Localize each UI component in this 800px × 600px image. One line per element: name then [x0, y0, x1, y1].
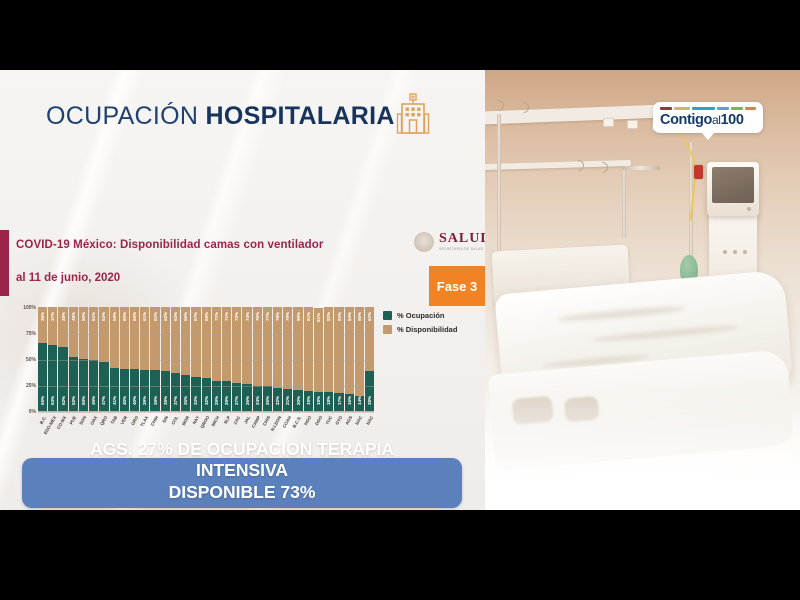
x-axis-tick-label: HGO — [303, 415, 312, 426]
bar-segment-ocupacion: 29% — [212, 381, 221, 411]
bar-segment-ocupacion: 19% — [304, 391, 313, 411]
bar-value-label: 60% — [122, 312, 127, 321]
hospital-building-icon — [396, 92, 430, 134]
bar-segment-disponibilidad: 84% — [345, 307, 354, 394]
bar-segment-disponibilidad: 71% — [222, 307, 231, 381]
bar-segment-ocupacion: 62% — [58, 347, 67, 411]
bar-segment-disponibilidad: 80% — [293, 307, 302, 390]
bar-segment-ocupacion: 18% — [324, 392, 333, 411]
bar-segment-ocupacion: 52% — [69, 357, 78, 411]
bar-segment-disponibilidad: 48% — [69, 307, 78, 357]
x-axis-tick-label: AGS — [344, 415, 353, 426]
bar-value-label: 20% — [296, 396, 301, 405]
bar-value-label: 52% — [71, 396, 76, 405]
x-axis-tick-label: TLAX — [139, 415, 149, 427]
bar-value-label: 39% — [142, 396, 147, 405]
chart-bar: 86%14% — [355, 307, 364, 411]
chart-bar: 60%40% — [120, 307, 129, 411]
bar-value-label: 80% — [296, 312, 301, 321]
bar-value-label: 82% — [326, 312, 331, 321]
hospital-room-photo: Contigoal100 — [485, 70, 800, 510]
bar-segment-ocupacion: 20% — [293, 390, 302, 411]
bar-value-label: 29% — [214, 396, 219, 405]
x-axis-tick-label: NAC — [365, 415, 374, 426]
x-axis-tick-label: CHIH — [150, 415, 160, 427]
chart-bar: 63%37% — [171, 307, 180, 411]
bar-segment-ocupacion: 35% — [181, 375, 190, 411]
bar-segment-disponibilidad: 74% — [242, 307, 251, 384]
bar-value-label: 17% — [336, 396, 341, 405]
bar-value-label: 76% — [255, 312, 260, 321]
bar-segment-disponibilidad: 62% — [365, 307, 374, 371]
bar-value-label: 35% — [40, 312, 45, 321]
bar-segment-disponibilidad: 51% — [89, 307, 98, 360]
salud-subtitle: SECRETARÍA DE SALUD — [439, 248, 485, 251]
x-axis-tick-label: SON — [79, 415, 88, 426]
bar-segment-ocupacion: 21% — [283, 389, 292, 411]
monitor-screen — [712, 167, 754, 203]
bar-segment-disponibilidad: 62% — [161, 307, 170, 371]
x-axis-tick-label: CD-MX — [56, 415, 68, 430]
bar-value-label: 51% — [91, 312, 96, 321]
bar-value-label: 81% — [316, 313, 321, 322]
legend-item: % Ocupación — [383, 311, 457, 320]
x-axis-tick-label: DGO — [314, 415, 323, 426]
bar-segment-disponibilidad: 59% — [110, 307, 119, 368]
logo-color-bar — [731, 107, 743, 110]
bar-segment-ocupacion: 40% — [130, 369, 139, 411]
x-axis-tick-label: GRO — [130, 415, 139, 426]
chart-bar: 51%49% — [89, 307, 98, 411]
bar-segment-ocupacion: 14% — [355, 396, 364, 411]
mexico-eagle-seal-icon — [414, 232, 434, 252]
bar-value-label: 60% — [132, 312, 137, 321]
bar-value-label: 81% — [306, 312, 311, 321]
x-axis-tick-label: B.C. — [38, 415, 47, 425]
bar-segment-ocupacion: 26% — [242, 384, 251, 411]
contigo-word-mid: al — [712, 113, 721, 127]
bar-value-label: 35% — [183, 396, 188, 405]
x-axis-tick-label: MICH — [211, 415, 221, 427]
bar-segment-disponibilidad: 53% — [99, 307, 108, 362]
bar-value-label: 63% — [173, 312, 178, 321]
logo-color-bar — [745, 107, 756, 110]
left-accent-bar — [0, 230, 9, 296]
bar-segment-disponibilidad: 50% — [79, 307, 88, 359]
bar-segment-disponibilidad: 63% — [171, 307, 180, 373]
bar-value-label: 78% — [275, 312, 280, 321]
bar-value-label: 37% — [50, 312, 55, 321]
bar-segment-disponibilidad: 35% — [38, 307, 47, 343]
bar-value-label: 65% — [40, 396, 45, 405]
bar-value-label: 59% — [112, 312, 117, 321]
chart-bar: 62%38% — [365, 307, 374, 411]
chart-bar: 37%63% — [48, 307, 57, 411]
bar-value-label: 50% — [81, 312, 86, 321]
bar-value-label: 19% — [306, 396, 311, 405]
bar-segment-disponibilidad: 71% — [212, 307, 221, 381]
bar-value-label: 48% — [71, 312, 76, 321]
bar-value-label: 62% — [163, 312, 168, 321]
bar-value-label: 50% — [81, 396, 86, 405]
banner-line-2: INTENSIVA — [22, 460, 462, 481]
page-title: OCUPACIÓN HOSPITALARIA — [46, 102, 395, 131]
y-axis-tick: 25% — [26, 383, 36, 389]
x-axis-tick-label: SIN — [162, 415, 170, 424]
chart-bar: 53%47% — [99, 307, 108, 411]
red-valve-icon — [694, 165, 703, 179]
chart-bar: 61%39% — [150, 307, 159, 411]
x-axis-tick-label: CAMP — [251, 415, 262, 429]
chart-bar: 81%18% — [314, 307, 323, 411]
x-axis-tick-label: VER — [120, 415, 129, 425]
slide-subtitle: COVID-19 México: Disponibilidad camas co… — [16, 239, 323, 251]
bar-segment-ocupacion: 24% — [253, 386, 262, 411]
chart-bar: 59%41% — [110, 307, 119, 411]
x-axis-tick-label: CHIS — [262, 415, 272, 427]
letterbox-bottom — [0, 510, 800, 600]
bar-segment-disponibilidad: 81% — [314, 308, 323, 392]
bar-value-label: 37% — [173, 396, 178, 405]
y-axis-tick: 75% — [26, 331, 36, 337]
legend-item: % Disponibilidad — [383, 325, 457, 334]
bar-segment-disponibilidad: 60% — [130, 307, 139, 369]
bar-value-label: 25% — [265, 396, 270, 405]
bar-segment-ocupacion: 22% — [273, 388, 282, 411]
bar-segment-disponibilidad: 86% — [355, 307, 364, 396]
bar-value-label: 26% — [244, 396, 249, 405]
chart-bar: 84%16% — [345, 307, 354, 411]
bar-segment-ocupacion: 17% — [334, 393, 343, 411]
chart-bar: 82%18% — [324, 307, 333, 411]
bar-segment-disponibilidad: 83% — [334, 307, 343, 393]
bar-value-label: 68% — [204, 312, 209, 321]
status-badge: Fase 3 — [429, 266, 485, 306]
chart-bar: 73%27% — [232, 307, 241, 411]
bar-value-label: 38% — [367, 396, 372, 405]
contigo-color-bars — [660, 107, 756, 110]
x-axis-tick-label: B.C.S. — [292, 415, 303, 429]
chart-bar: 80%20% — [293, 307, 302, 411]
bar-segment-disponibilidad: 65% — [181, 307, 190, 375]
salud-wordmark: SALUD — [439, 232, 485, 246]
bar-value-label: 32% — [204, 396, 209, 405]
x-axis-tick-label: PUE — [69, 415, 78, 425]
bar-value-label: 73% — [234, 312, 239, 321]
logo-color-bar — [692, 107, 715, 110]
chart-bar: 48%52% — [69, 307, 78, 411]
bar-value-label: 65% — [183, 312, 188, 321]
x-axis-tick-label: QROO — [199, 415, 210, 429]
x-axis-tick-label: NAC — [355, 415, 364, 426]
chart-bar: 78%22% — [273, 307, 282, 411]
bar-segment-ocupacion: 33% — [191, 377, 200, 411]
bar-segment-ocupacion: 32% — [202, 378, 211, 411]
contigo-al-100-logo: Contigoal100 — [653, 102, 763, 133]
bar-segment-disponibilidad: 73% — [232, 307, 241, 383]
bar-segment-disponibilidad: 76% — [253, 307, 262, 386]
x-axis-tick-label: OAX — [89, 415, 98, 426]
ventilator-monitor — [707, 162, 759, 216]
x-axis-tick-label: MOR — [181, 415, 190, 426]
fase-badge-label: Fase 3 — [437, 279, 477, 294]
bar-value-label: 86% — [357, 312, 362, 321]
chart-bar: 74%26% — [242, 307, 251, 411]
bar-segment-ocupacion: 40% — [120, 369, 129, 411]
x-axis-tick-label: JAL — [243, 415, 251, 425]
photo-bottom-fade — [485, 390, 800, 510]
bar-value-label: 24% — [255, 396, 260, 405]
bar-value-label: 83% — [336, 312, 341, 321]
wall-outlet — [603, 118, 614, 127]
chart-bar: 79%21% — [283, 307, 292, 411]
bar-segment-disponibilidad: 68% — [202, 307, 211, 378]
bar-value-label: 67% — [193, 312, 198, 321]
bar-value-label: 49% — [91, 396, 96, 405]
bar-segment-ocupacion: 63% — [48, 345, 57, 411]
legend-label: % Ocupación — [397, 311, 445, 320]
bar-value-label: 40% — [122, 396, 127, 405]
x-axis-tick-label: ZAC — [232, 415, 241, 425]
contigo-word-end: 100 — [721, 112, 744, 128]
bar-value-label: 84% — [347, 312, 352, 321]
bar-value-label: 62% — [61, 396, 66, 405]
x-axis-tick-label: NAY — [191, 415, 200, 425]
bar-value-label: 41% — [112, 396, 117, 405]
chart-bar: 71%29% — [212, 307, 221, 411]
chart-legend: % Ocupación% Disponibilidad — [383, 311, 457, 334]
x-axis-tick-label: COL — [171, 415, 180, 426]
chart-bar: 61%39% — [140, 307, 149, 411]
bar-segment-disponibilidad: 60% — [120, 307, 129, 369]
bar-value-label: 62% — [367, 312, 372, 321]
chart-bar: 71%29% — [222, 307, 231, 411]
chart-bar: 38%62% — [58, 307, 67, 411]
chart-bar: 83%17% — [334, 307, 343, 411]
bar-value-label: 22% — [275, 396, 280, 405]
contigo-word-start: Contigo — [660, 112, 712, 128]
bar-segment-ocupacion: 27% — [232, 383, 241, 411]
y-axis-tick: 100% — [23, 305, 36, 311]
bar-segment-ocupacion: 18% — [314, 392, 323, 411]
legend-swatch — [383, 325, 392, 334]
bar-value-label: 61% — [153, 312, 158, 321]
page-title-thin: OCUPACIÓN — [46, 102, 198, 130]
bar-value-label: 61% — [142, 312, 147, 321]
chart-plot-area: 35%65%37%63%38%62%48%52%50%50%51%49%53%4… — [38, 308, 374, 412]
bar-value-label: 29% — [224, 396, 229, 405]
bar-segment-disponibilidad: 61% — [150, 307, 159, 370]
bar-value-label: 53% — [101, 312, 106, 321]
stacked-bar-chart: 0%25%50%75%100% 35%65%37%63%38%62%48%52%… — [14, 308, 374, 426]
bar-segment-disponibilidad: 67% — [191, 307, 200, 377]
bar-value-label: 77% — [265, 312, 270, 321]
bar-value-label: 71% — [224, 312, 229, 321]
bar-value-label: 16% — [347, 396, 352, 405]
logo-color-bar — [674, 107, 690, 110]
chart-bar: 76%24% — [253, 307, 262, 411]
bar-value-label: 40% — [132, 396, 137, 405]
letterbox-top — [0, 0, 800, 70]
bar-segment-ocupacion: 29% — [222, 381, 231, 411]
bar-value-label: 74% — [244, 312, 249, 321]
bar-value-label: 21% — [285, 396, 290, 405]
bar-segment-disponibilidad: 81% — [304, 307, 313, 391]
y-axis-tick: 0% — [29, 409, 36, 415]
x-axis-tick-label: GTO — [334, 415, 343, 426]
bar-value-label: 39% — [153, 396, 158, 405]
bar-value-label: 18% — [316, 396, 321, 405]
bar-segment-disponibilidad: 61% — [140, 307, 149, 370]
bar-segment-disponibilidad: 82% — [324, 307, 333, 392]
chart-gridline — [38, 412, 374, 413]
bar-segment-disponibilidad: 38% — [58, 307, 67, 347]
bar-segment-ocupacion: 25% — [263, 386, 272, 411]
bar-value-label: 14% — [357, 396, 362, 405]
bar-segment-ocupacion: 38% — [161, 371, 170, 411]
screenshot-root: OCUPACIÓN HOSPITALARIA COVID-1 — [0, 0, 800, 600]
bar-segment-ocupacion: 50% — [79, 359, 88, 411]
x-axis-tick-label: TAB — [110, 415, 119, 425]
chart-y-axis: 0%25%50%75%100% — [14, 308, 36, 412]
bar-segment-ocupacion: 16% — [345, 394, 354, 411]
bar-segment-ocupacion: 39% — [150, 370, 159, 411]
bar-segment-ocupacion: 39% — [140, 370, 149, 411]
banner-line-3: DISPONIBLE 73% — [22, 482, 462, 503]
chart-bar: 50%50% — [79, 307, 88, 411]
bar-value-label: 18% — [326, 396, 331, 405]
legend-label: % Disponibilidad — [397, 325, 457, 334]
bar-value-label: 38% — [163, 396, 168, 405]
x-axis-tick-label: YUC — [324, 415, 333, 426]
page-title-bold: HOSPITALARIA — [206, 102, 395, 130]
chart-bar: 67%33% — [191, 307, 200, 411]
logo-color-bar — [717, 107, 729, 110]
slide-date: al 11 de junio, 2020 — [16, 272, 120, 284]
chart-bar: 65%35% — [181, 307, 190, 411]
bar-segment-disponibilidad: 77% — [263, 307, 272, 386]
x-axis-tick-label: SLP — [222, 415, 231, 425]
chart-bar: 68%32% — [202, 307, 211, 411]
y-axis-tick: 50% — [26, 357, 36, 363]
bar-value-label: 63% — [50, 396, 55, 405]
x-axis-tick-label: COAH — [281, 415, 292, 429]
banner-text: AGS. 27% DE OCUPACION TERAPIA INTENSIVA … — [22, 439, 462, 503]
legend-swatch — [383, 311, 392, 320]
bar-segment-ocupacion: 65% — [38, 343, 47, 411]
salud-logo: SALUD SECRETARÍA DE SALUD — [414, 232, 485, 252]
wall-outlet — [627, 120, 638, 129]
bar-segment-ocupacion: 37% — [171, 373, 180, 411]
bar-value-label: 33% — [193, 396, 198, 405]
chart-bar: 77%25% — [263, 307, 272, 411]
bar-value-label: 38% — [61, 312, 66, 321]
bar-value-label: 47% — [101, 396, 106, 405]
bar-segment-disponibilidad: 78% — [273, 307, 282, 388]
bar-segment-ocupacion: 47% — [99, 362, 108, 411]
bar-value-label: 71% — [214, 312, 219, 321]
contigo-wordmark: Contigoal100 — [660, 113, 756, 128]
bar-segment-ocupacion: 49% — [89, 360, 98, 411]
bar-segment-ocupacion: 41% — [110, 368, 119, 411]
bottom-banner: AGS. 27% DE OCUPACION TERAPIA INTENSIVA … — [0, 448, 485, 510]
bar-value-label: 27% — [234, 396, 239, 405]
chart-bar: 62%38% — [161, 307, 170, 411]
bar-value-label: 79% — [285, 312, 290, 321]
iv-pole — [622, 166, 626, 238]
logo-color-bar — [660, 107, 672, 110]
bar-segment-disponibilidad: 79% — [283, 307, 292, 389]
bar-segment-ocupacion: 38% — [365, 371, 374, 411]
banner-line-1: AGS. 27% DE OCUPACION TERAPIA — [22, 439, 462, 460]
x-axis-tick-label: QRO — [99, 415, 108, 426]
chart-bar: 35%65% — [38, 307, 47, 411]
chart-bar: 60%40% — [130, 307, 139, 411]
bar-segment-disponibilidad: 37% — [48, 307, 57, 345]
chart-bar: 81%19% — [304, 307, 313, 411]
